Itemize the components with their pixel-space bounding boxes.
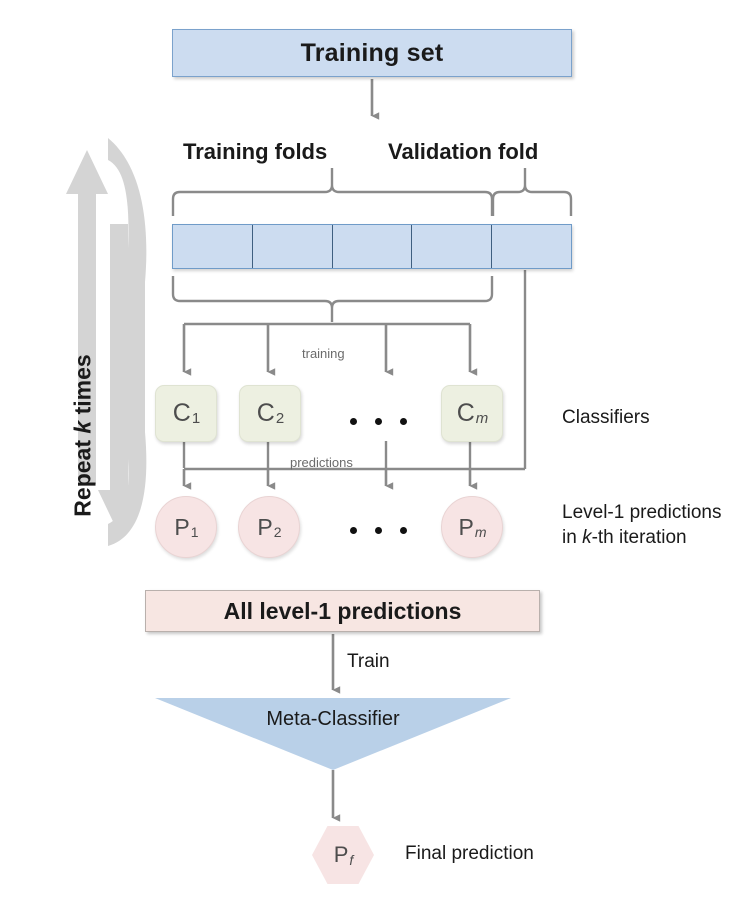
- classifier-1-symbol: C: [173, 399, 191, 428]
- all-level1-label: All level-1 predictions: [224, 598, 462, 625]
- fold-cell-5-validation: [492, 225, 571, 268]
- prediction-2-subscript: 2: [274, 524, 282, 540]
- all-level1-predictions-box: All level-1 predictions: [145, 590, 540, 632]
- classifier-m-subscript: m: [476, 410, 489, 427]
- train-wire-caption: Train: [347, 651, 390, 673]
- classifiers-ellipsis-icon: [350, 418, 407, 425]
- prediction-1-symbol: P: [174, 514, 189, 541]
- repeat-label-var: k: [70, 421, 96, 434]
- classifier-2-symbol: C: [257, 399, 275, 428]
- training-wire-caption: training: [302, 346, 345, 361]
- level1-annotation-line2: in k-th iteration: [562, 525, 721, 550]
- fold-cell-4: [412, 225, 492, 268]
- diagram-canvas: Repeat k times: [0, 0, 753, 905]
- prediction-m-subscript: m: [475, 524, 487, 540]
- training-set-box: Training set: [172, 29, 572, 77]
- level1-line2-pre: in: [562, 527, 582, 548]
- fold-strip: [172, 224, 572, 269]
- repeat-loop-label: Repeat k times: [70, 321, 97, 551]
- final-prediction-subscript: f: [349, 852, 353, 868]
- prediction-circle-1: P1: [155, 496, 217, 558]
- meta-classifier-shape: Meta-Classifier: [155, 698, 511, 770]
- classifier-box-m: Cm: [441, 385, 503, 442]
- classifier-2-subscript: 2: [276, 410, 284, 427]
- prediction-2-symbol: P: [257, 514, 272, 541]
- final-prediction-label: Final prediction: [405, 843, 534, 865]
- prediction-1-subscript: 1: [191, 524, 199, 540]
- predictions-wire-caption: predictions: [290, 455, 353, 470]
- final-prediction-symbol: P: [334, 842, 349, 868]
- final-prediction-hexagon: Pf: [312, 826, 374, 884]
- repeat-label-suffix: times: [70, 354, 96, 420]
- classifiers-annotation: Classifiers: [562, 405, 650, 430]
- predictions-ellipsis-icon: [350, 527, 407, 534]
- level1-line2-post: -th iteration: [592, 527, 687, 548]
- meta-classifier-label: Meta-Classifier: [155, 708, 511, 731]
- fold-cell-2: [253, 225, 333, 268]
- validation-fold-label: Validation fold: [388, 139, 538, 165]
- training-folds-label: Training folds: [183, 139, 327, 165]
- classifier-box-2: C2: [239, 385, 301, 442]
- fold-cell-1: [173, 225, 253, 268]
- repeat-loop-arrow: Repeat k times: [46, 132, 156, 552]
- level1-line2-var: k: [582, 527, 592, 548]
- repeat-label-prefix: Repeat: [70, 434, 96, 517]
- classifier-m-symbol: C: [457, 399, 475, 428]
- training-set-label: Training set: [301, 39, 444, 68]
- prediction-m-symbol: P: [458, 514, 473, 541]
- classifier-1-subscript: 1: [192, 410, 200, 427]
- prediction-circle-2: P2: [238, 496, 300, 558]
- classifier-box-1: C1: [155, 385, 217, 442]
- level1-annotation-line1: Level-1 predictions: [562, 500, 721, 525]
- prediction-circle-m: Pm: [441, 496, 503, 558]
- fold-cell-3: [333, 225, 413, 268]
- level1-predictions-annotation: Level-1 predictions in k-th iteration: [562, 500, 721, 550]
